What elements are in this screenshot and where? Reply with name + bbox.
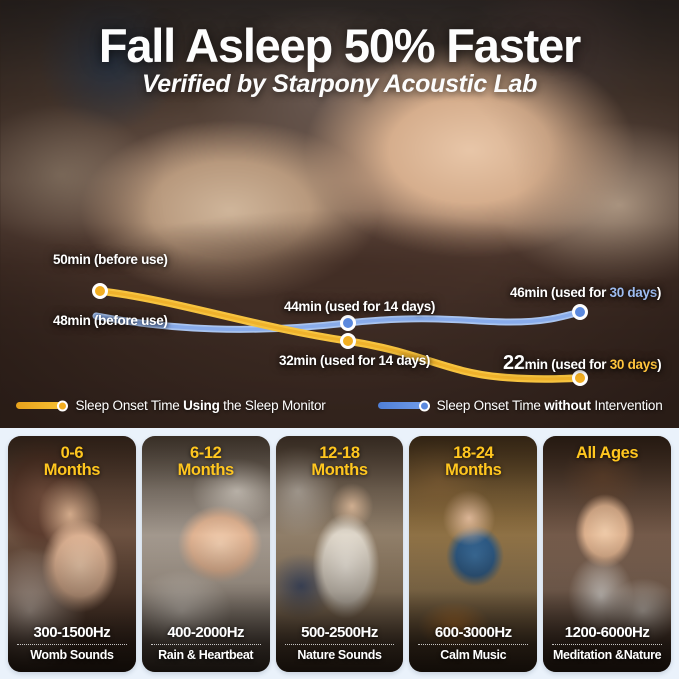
card-sound-1: Rain & Heartbeat bbox=[142, 648, 270, 662]
annotation-yellow-0: 50min (before use) bbox=[53, 252, 168, 267]
card-sound-0: Womb Sounds bbox=[8, 648, 136, 662]
hero-section: Fall Asleep 50% Faster Verified by Starp… bbox=[0, 0, 679, 428]
card-age-label-3: 18-24 Months bbox=[409, 445, 537, 479]
legend-prefix-1: Sleep Onset Time bbox=[437, 398, 545, 413]
card-divider-2 bbox=[285, 644, 395, 645]
annotation-yellow-2-value: 22 bbox=[503, 352, 525, 374]
card-age-line1-1: 6-12 bbox=[142, 445, 270, 462]
card-footer-3: 600-3000Hz Calm Music bbox=[409, 624, 537, 662]
card-divider-0 bbox=[17, 644, 127, 645]
card-footer-2: 500-2500Hz Nature Sounds bbox=[276, 624, 404, 662]
legend-item-without-intervention[interactable]: Sleep Onset Time without Intervention bbox=[378, 398, 663, 413]
card-footer-0: 300-1500Hz Womb Sounds bbox=[8, 624, 136, 662]
card-frequency-1: 400-2000Hz bbox=[142, 624, 270, 641]
card-age-line2-2: Months bbox=[276, 462, 404, 479]
card-age-label-1: 6-12 Months bbox=[142, 445, 270, 479]
data-point-blue-1[interactable] bbox=[342, 317, 355, 330]
card-age-line2-0: Months bbox=[8, 462, 136, 479]
card-frequency-2: 500-2500Hz bbox=[276, 624, 404, 641]
card-frequency-4: 1200-6000Hz bbox=[543, 624, 671, 641]
legend-prefix-0: Sleep Onset Time bbox=[75, 398, 183, 413]
card-footer-1: 400-2000Hz Rain & Heartbeat bbox=[142, 624, 270, 662]
card-divider-1 bbox=[151, 644, 261, 645]
age-group-cards: 0-6 Months 300-1500Hz Womb Sounds 6-12 M… bbox=[0, 428, 679, 679]
chart-legend: Sleep Onset Time Using the Sleep Monitor… bbox=[0, 398, 679, 413]
legend-bold-1: without bbox=[544, 398, 591, 413]
annotation-blue-2-suffix: ) bbox=[657, 285, 661, 300]
legend-dot-blue-icon bbox=[419, 400, 430, 411]
card-age-label-4: All Ages bbox=[543, 445, 671, 462]
legend-label-without-intervention: Sleep Onset Time without Intervention bbox=[437, 398, 663, 413]
legend-label-using-monitor: Sleep Onset Time Using the Sleep Monitor bbox=[75, 398, 325, 413]
age-card-6-12-months[interactable]: 6-12 Months 400-2000Hz Rain & Heartbeat bbox=[142, 436, 270, 672]
card-age-line1-0: 0-6 bbox=[8, 445, 136, 462]
card-age-line2-3: Months bbox=[409, 462, 537, 479]
card-frequency-3: 600-3000Hz bbox=[409, 624, 537, 641]
card-age-line1-2: 12-18 bbox=[276, 445, 404, 462]
card-sound-2: Nature Sounds bbox=[276, 648, 404, 662]
annotation-yellow-2: 22min (used for 30 days) bbox=[503, 352, 661, 375]
age-card-12-18-months[interactable]: 12-18 Months 500-2500Hz Nature Sounds bbox=[276, 436, 404, 672]
card-age-label-2: 12-18 Months bbox=[276, 445, 404, 479]
annotation-yellow-2-prefix: min (used for bbox=[525, 357, 610, 372]
data-point-blue-2[interactable] bbox=[574, 306, 587, 319]
card-sound-4: Meditation &Nature bbox=[543, 648, 671, 662]
card-frequency-0: 300-1500Hz bbox=[8, 624, 136, 641]
data-point-yellow-1[interactable] bbox=[342, 335, 355, 348]
age-card-0-6-months[interactable]: 0-6 Months 300-1500Hz Womb Sounds bbox=[8, 436, 136, 672]
annotation-blue-0: 48min (before use) bbox=[53, 313, 168, 328]
card-age-label-0: 0-6 Months bbox=[8, 445, 136, 479]
legend-swatch-blue-icon bbox=[378, 402, 424, 409]
sleep-onset-line-chart: 50min (before use) 48min (before use) 44… bbox=[0, 0, 679, 428]
card-footer-4: 1200-6000Hz Meditation &Nature bbox=[543, 624, 671, 662]
age-card-18-24-months[interactable]: 18-24 Months 600-3000Hz Calm Music bbox=[409, 436, 537, 672]
card-age-line1-4: All Ages bbox=[543, 445, 671, 462]
annotation-yellow-2-accent: 30 days bbox=[610, 357, 657, 372]
card-age-line2-1: Months bbox=[142, 462, 270, 479]
card-age-line1-3: 18-24 bbox=[409, 445, 537, 462]
annotation-blue-2: 46min (used for 30 days) bbox=[510, 285, 661, 300]
card-divider-3 bbox=[418, 644, 528, 645]
legend-item-using-monitor[interactable]: Sleep Onset Time Using the Sleep Monitor bbox=[16, 398, 325, 413]
annotation-yellow-1: 32min (used for 14 days) bbox=[279, 353, 430, 368]
legend-dot-yellow-icon bbox=[57, 400, 68, 411]
data-point-yellow-0[interactable] bbox=[94, 285, 107, 298]
card-divider-4 bbox=[552, 644, 662, 645]
legend-swatch-yellow-icon bbox=[16, 402, 62, 409]
legend-suffix-0: the Sleep Monitor bbox=[220, 398, 326, 413]
card-sound-3: Calm Music bbox=[409, 648, 537, 662]
age-card-all-ages[interactable]: All Ages 1200-6000Hz Meditation &Nature bbox=[543, 436, 671, 672]
annotation-blue-1: 44min (used for 14 days) bbox=[284, 299, 435, 314]
legend-bold-0: Using bbox=[183, 398, 220, 413]
annotation-yellow-2-suffix: ) bbox=[657, 357, 661, 372]
legend-suffix-1: Intervention bbox=[591, 398, 663, 413]
infographic-page: Fall Asleep 50% Faster Verified by Starp… bbox=[0, 0, 679, 679]
annotation-blue-2-accent: 30 days bbox=[609, 285, 656, 300]
annotation-blue-2-prefix: 46min (used for bbox=[510, 285, 609, 300]
